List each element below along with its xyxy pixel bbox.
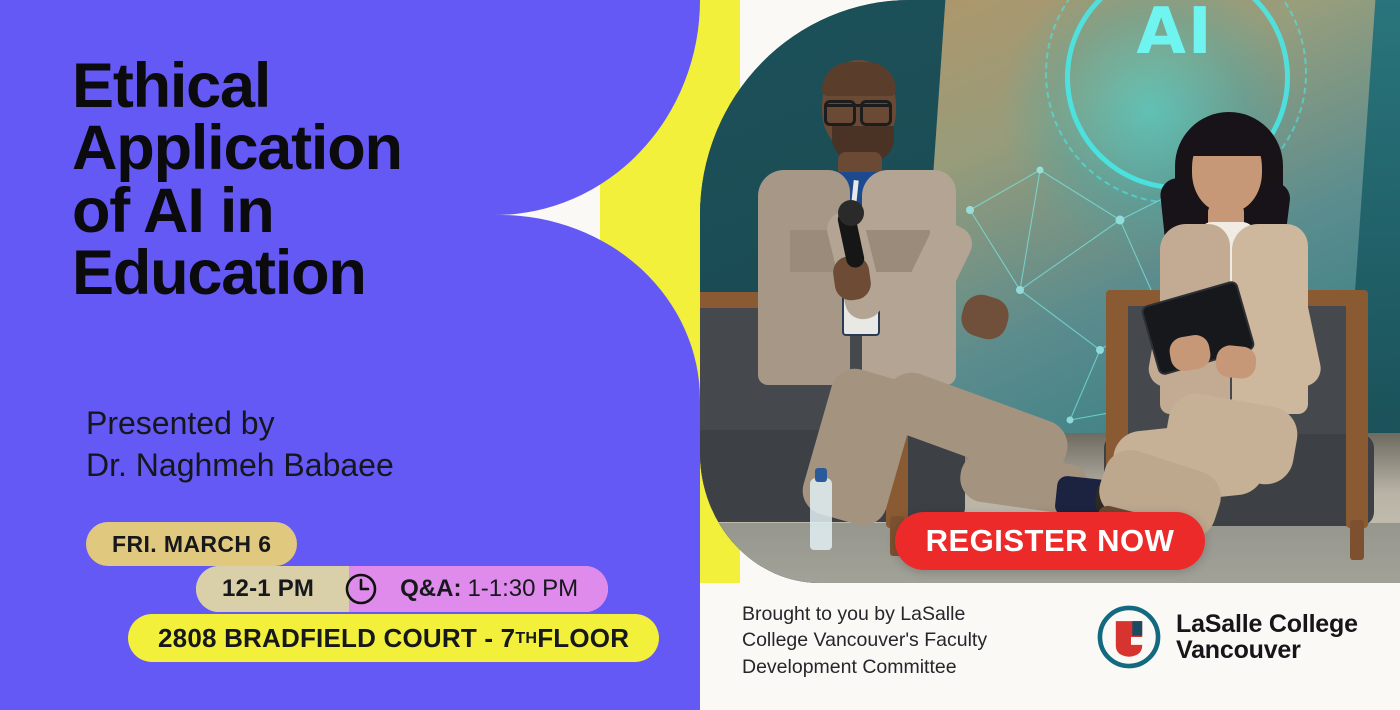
time-main-label: 12-1 PM xyxy=(196,566,334,612)
lasalle-logo-text: LaSalle College Vancouver xyxy=(1176,611,1358,663)
qa-time-label: 1-1:30 PM xyxy=(467,575,578,603)
screen-ai-label: AI xyxy=(1120,0,1230,69)
title-line-2: Application xyxy=(72,117,592,179)
title-line-3: of AI in xyxy=(72,180,592,242)
credit-text: Brought to you by LaSalle College Vancou… xyxy=(742,601,1032,680)
time-badge: 12-1 PM Q&A: 1-1:30 PM xyxy=(196,566,608,612)
presenter-name: Dr. Naghmeh Babaee xyxy=(86,445,546,487)
title-line-4: Education xyxy=(72,242,592,304)
water-bottle xyxy=(810,478,832,550)
date-badge-label: FRI. MARCH 6 xyxy=(112,531,271,558)
presented-by-label: Presented by xyxy=(86,403,546,445)
event-photo: AI xyxy=(700,0,1400,583)
address-suffix: FLOOR xyxy=(537,623,629,654)
address-badge: 2808 BRADFIELD COURT - 7TH FLOOR xyxy=(128,614,659,662)
title-line-1: Ethical xyxy=(72,55,592,117)
lasalle-logo: LaSalle College Vancouver xyxy=(1096,604,1358,670)
bottle-cap xyxy=(815,468,827,482)
credit-line-1: Brought to you by LaSalle xyxy=(742,601,1032,627)
lasalle-shield-logo-icon xyxy=(1096,604,1162,670)
register-now-label: REGISTER NOW xyxy=(926,523,1175,559)
credit-line-3: Development Committee xyxy=(742,654,1032,680)
register-now-button[interactable]: REGISTER NOW xyxy=(895,512,1205,570)
speaker-person-left xyxy=(730,60,1060,580)
page-title: Ethical Application of AI in Education xyxy=(72,55,592,304)
qa-label: Q&A: xyxy=(400,575,461,603)
logo-line-1: LaSalle College xyxy=(1176,611,1358,637)
logo-line-2: Vancouver xyxy=(1176,637,1358,663)
address-ordinal-suffix: TH xyxy=(515,629,537,648)
credit-line-2: College Vancouver's Faculty xyxy=(742,627,1032,653)
presenter-text: Presented by Dr. Naghmeh Babaee xyxy=(86,403,546,486)
clock-icon xyxy=(334,566,388,612)
date-badge: FRI. MARCH 6 xyxy=(86,522,297,566)
qa-time-group: Q&A: 1-1:30 PM xyxy=(388,566,608,612)
poster-canvas: AI xyxy=(0,0,1400,710)
speaker-person-right xyxy=(1120,108,1400,568)
address-prefix: 2808 BRADFIELD COURT - 7 xyxy=(158,623,515,654)
